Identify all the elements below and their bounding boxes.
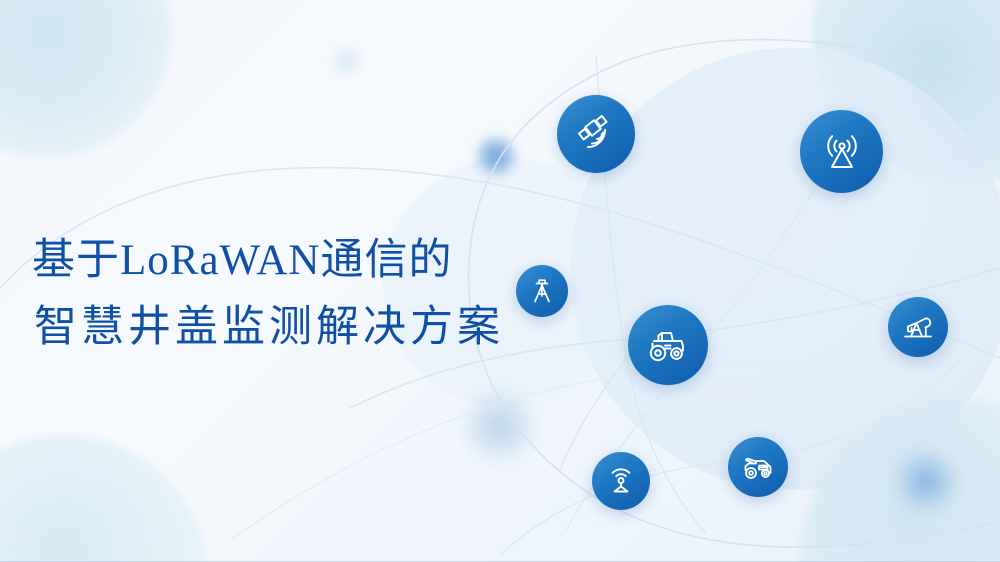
- survey-tripod-icon: [528, 277, 556, 305]
- node-survey-tripod[interactable]: [516, 265, 568, 317]
- accent-dot-c: [897, 452, 955, 510]
- main-faint-sphere: [570, 48, 1000, 490]
- node-tractor[interactable]: [628, 305, 708, 385]
- wireless-sensor-icon: [605, 465, 637, 497]
- accent-dot-b: [463, 390, 535, 462]
- node-oil-pump[interactable]: [888, 297, 948, 357]
- radio-tower-icon: [819, 129, 865, 175]
- node-satellite[interactable]: [557, 95, 635, 173]
- satellite-dish-icon: [574, 112, 618, 156]
- bottom-left-blob: [0, 435, 208, 562]
- node-harvester[interactable]: [728, 437, 788, 497]
- tractor-icon: [645, 322, 691, 368]
- accent-dot-a: [476, 136, 516, 176]
- top-left-blob: [0, 0, 172, 158]
- title-line-2: 智慧井盖监测解决方案: [32, 295, 572, 362]
- bottom-right-blob: [800, 400, 1000, 562]
- presentation-slide: 基于LoRaWAN通信的 智慧井盖监测解决方案: [0, 0, 1000, 562]
- harvester-vehicle-icon: [740, 449, 776, 485]
- node-sensor-beacon[interactable]: [592, 452, 650, 510]
- slide-title: 基于LoRaWAN通信的 智慧井盖监测解决方案: [32, 228, 572, 361]
- title-line-1: 基于LoRaWAN通信的: [32, 228, 572, 295]
- node-radio-tower[interactable]: [800, 110, 883, 193]
- accent-dot-d: [332, 46, 362, 76]
- oil-pumpjack-icon: [901, 310, 935, 344]
